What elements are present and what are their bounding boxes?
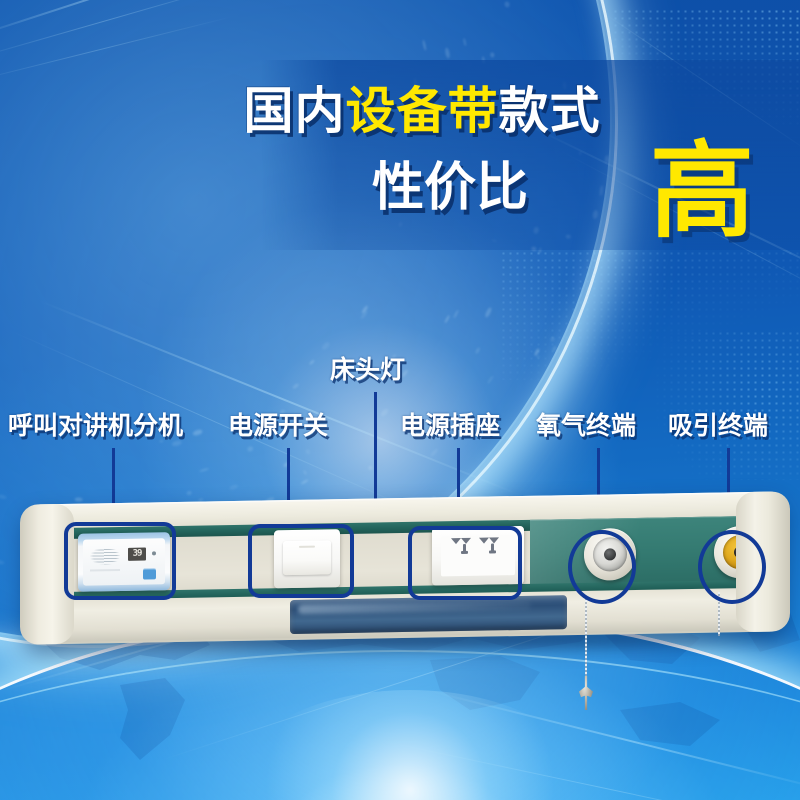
headline-emphasis-char: 高 [650, 140, 754, 244]
callout-label-oxygen-terminal: 氧气终端 [536, 414, 636, 439]
highlight-box-intercom [64, 522, 176, 600]
highlight-box-socket [408, 526, 522, 600]
highlight-circle-suction [698, 530, 766, 604]
callout-label-power-socket: 电源插座 [400, 414, 500, 439]
callout-label-power-switch: 电源开关 [228, 414, 328, 439]
bed-head-lamp-strip[interactable] [290, 595, 567, 634]
highlight-circle-oxygen [568, 530, 636, 604]
callout-label-nurse-call-intercom: 呼叫对讲机分机 [8, 414, 183, 439]
promo-banner: 国内设备带款式 性价比 高 呼叫对讲机分机 电源开关 床头灯 电源插座 氧气终端… [0, 0, 800, 800]
headline-line-2: 性价比 [372, 162, 528, 214]
callout-label-suction-terminal: 吸引终端 [668, 414, 768, 439]
headline-part-2: 款式 [499, 83, 601, 139]
headline-highlight: 设备带 [346, 83, 499, 139]
headline-part-1: 国内 [244, 83, 346, 139]
headline-line-1: 国内设备带款式 [200, 86, 601, 136]
highlight-box-switch [248, 524, 354, 598]
headline-row-2: 性价比 高 [0, 162, 800, 242]
dot-matrix-center [500, 250, 800, 380]
callout-label-bed-head-lamp: 床头灯 [330, 358, 405, 383]
headline-block: 国内设备带款式 [0, 86, 800, 136]
